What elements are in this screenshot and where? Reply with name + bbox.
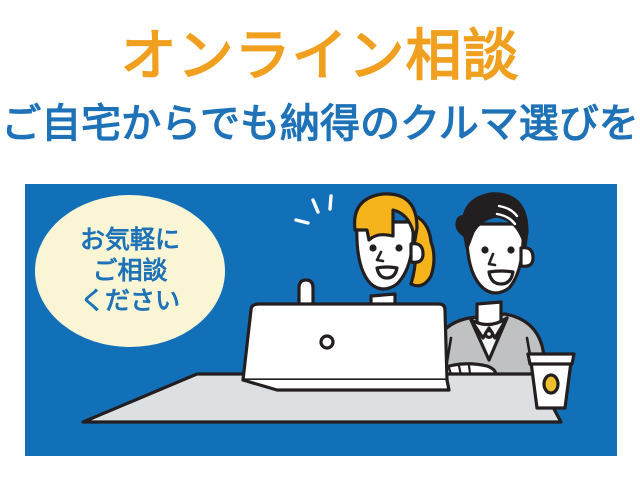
coffee-cup <box>528 354 574 408</box>
promo-banner: オンライン相談 ご自宅からでも納得のクルマ選びを <box>0 0 640 480</box>
sparkle-lines <box>296 196 331 223</box>
page-subtitle: ご自宅からでも納得のクルマ選びを <box>0 104 640 144</box>
badge-line-2: ご相談 <box>92 256 167 287</box>
badge-line-3: ください <box>80 286 180 317</box>
badge-line-1: お気軽に <box>80 225 180 256</box>
status-badge: お気軽に ご相談 ください <box>35 195 225 347</box>
page-title: オンライン相談 <box>0 28 640 84</box>
laptop <box>243 304 449 390</box>
header: オンライン相談 ご自宅からでも納得のクルマ選びを <box>0 0 640 180</box>
illustration-panel: お気軽に ご相談 ください <box>25 184 617 456</box>
